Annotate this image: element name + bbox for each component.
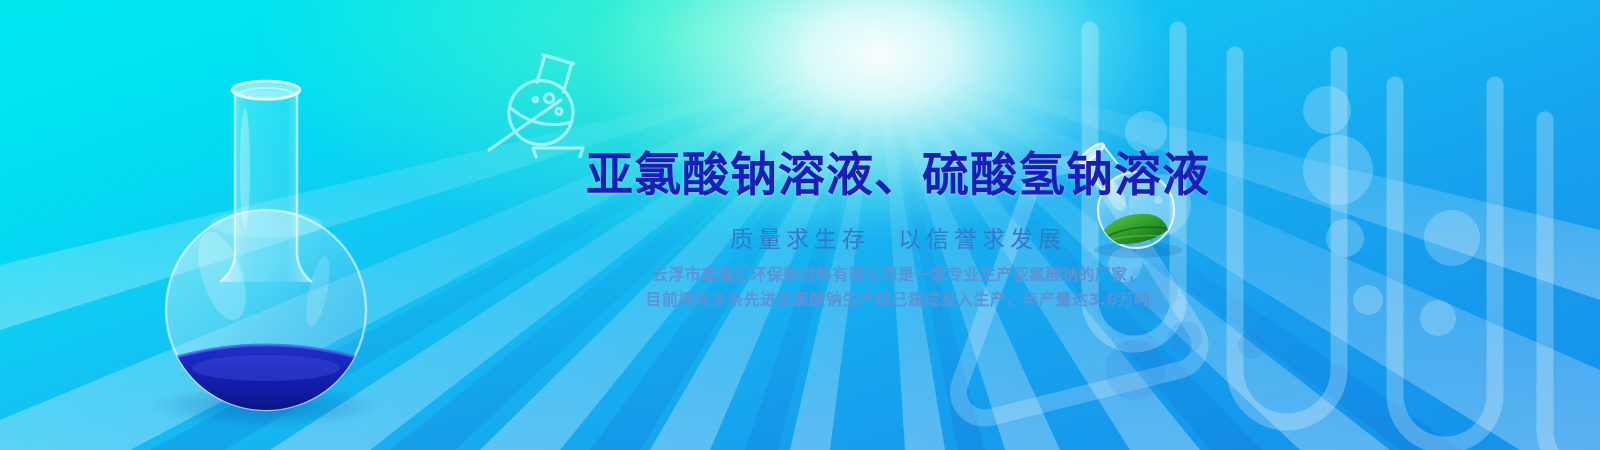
banner-description: 云浮市鑫隆汇环保新材料有限公司是一家专业生产亚氯酸钠的厂家， 目前拥有多条先进亚… — [0, 262, 1600, 312]
description-line-1: 云浮市鑫隆汇环保新材料有限公司是一家专业生产亚氯酸钠的厂家， — [196, 262, 1600, 287]
banner-title: 亚氯酸钠溶液、硫酸氢钠溶液 — [0, 152, 1600, 199]
banner-subtitle: 质量求生存 以信誉求发展 — [0, 229, 1600, 252]
promo-banner: 亚氯酸钠溶液、硫酸氢钠溶液 质量求生存 以信誉求发展 云浮市鑫隆汇环保新材料有限… — [0, 0, 1600, 450]
banner-text-block: 亚氯酸钠溶液、硫酸氢钠溶液 质量求生存 以信誉求发展 云浮市鑫隆汇环保新材料有限… — [0, 0, 1600, 450]
description-line-2: 目前拥有多条先进亚氯酸钠生产线已建成投入生产，年产量达3.6万吨 — [196, 287, 1600, 312]
